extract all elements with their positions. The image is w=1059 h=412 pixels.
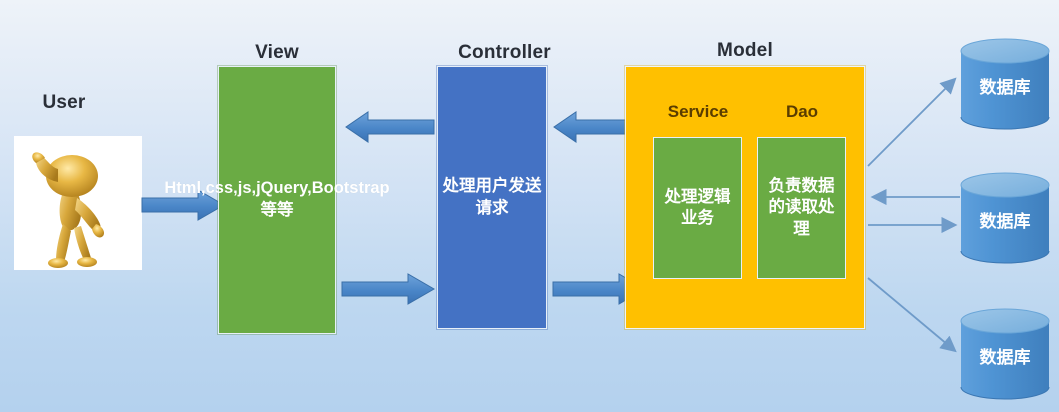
database-icon bbox=[958, 38, 1052, 130]
diagram-canvas: User bbox=[0, 0, 1059, 412]
arrow-dao-to-db-bottom bbox=[864, 272, 964, 362]
dao-caption: Dao bbox=[757, 102, 847, 122]
controller-caption: Controller bbox=[437, 42, 572, 64]
service-box[interactable]: 处理逻辑业务 bbox=[653, 137, 742, 279]
dao-box[interactable]: 负责数据的读取处理 bbox=[757, 137, 846, 279]
arrow-view-to-controller bbox=[340, 272, 436, 306]
user-caption: User bbox=[14, 92, 114, 114]
arrow-controller-to-view bbox=[344, 110, 436, 144]
user-figure-icon bbox=[14, 136, 142, 270]
user-stick-figure-illustration bbox=[14, 136, 142, 270]
arrow-dao-to-db-mid bbox=[866, 216, 962, 238]
model-caption: Model bbox=[625, 40, 865, 62]
controller-box[interactable]: 处理用户发送请求 bbox=[437, 66, 547, 329]
service-caption: Service bbox=[653, 102, 743, 122]
service-box-text: 处理逻辑业务 bbox=[654, 187, 741, 229]
view-box[interactable]: Html,css,js,jQuery,Bootstrap等等 bbox=[218, 66, 336, 334]
database-icon bbox=[958, 308, 1052, 400]
view-box-text: Html,css,js,jQuery,Bootstrap等等 bbox=[160, 178, 393, 222]
database-cylinder-3[interactable]: 数据库 bbox=[958, 308, 1052, 400]
arrow-db-mid-to-dao bbox=[866, 188, 962, 210]
controller-box-text: 处理用户发送请求 bbox=[438, 176, 546, 218]
database-cylinder-2[interactable]: 数据库 bbox=[958, 172, 1052, 264]
view-caption: View bbox=[218, 42, 336, 64]
arrow-dao-to-db-top bbox=[864, 60, 964, 170]
database-icon bbox=[958, 172, 1052, 264]
database-cylinder-1[interactable]: 数据库 bbox=[958, 38, 1052, 130]
dao-box-text: 负责数据的读取处理 bbox=[758, 176, 845, 239]
